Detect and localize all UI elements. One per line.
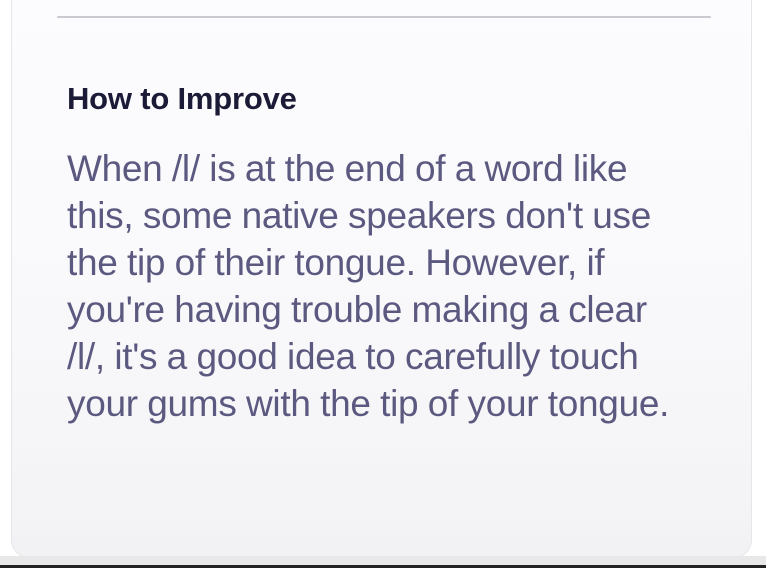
page-title: How to Improve <box>67 80 707 118</box>
content-card: How to Improve When /l/ is at the end of… <box>11 0 752 558</box>
section-divider <box>57 16 711 18</box>
card-inner: How to Improve When /l/ is at the end of… <box>12 0 751 557</box>
screen-root: How to Improve When /l/ is at the end of… <box>0 0 766 568</box>
improvement-tip-text: When /l/ is at the end of a word like th… <box>67 145 691 427</box>
bottom-band <box>0 556 766 565</box>
